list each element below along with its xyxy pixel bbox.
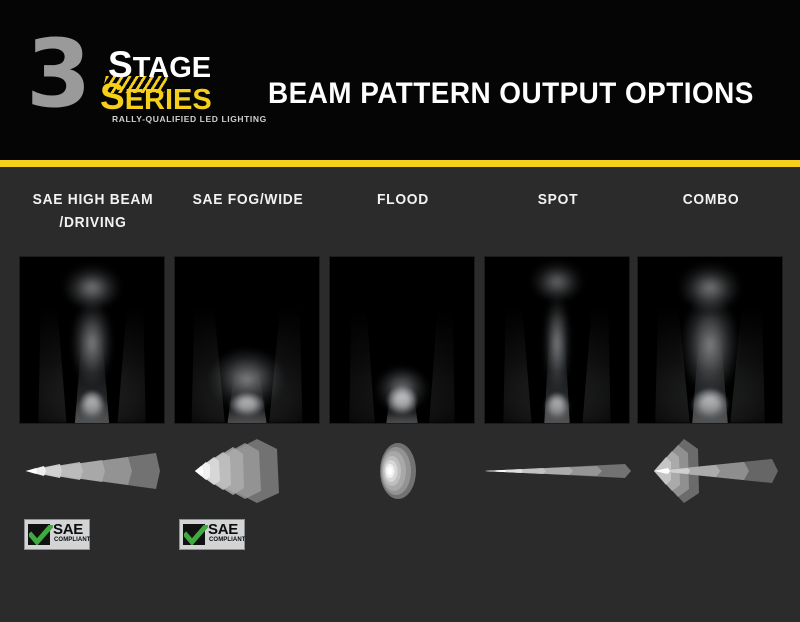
beam-pattern-diagram — [10, 435, 176, 507]
beam-diagram-flood-svg — [320, 435, 486, 507]
beam-option-label: COMBO — [636, 188, 785, 211]
logo-word-series: SERIES — [100, 82, 212, 115]
beam-option-column[interactable]: FLOOD — [330, 167, 476, 622]
sae-compliant-badge: SAE COMPLIANT — [24, 519, 90, 550]
logo-series-rest: ERIES — [125, 84, 212, 116]
beam-photo — [20, 257, 164, 423]
beam-options-grid: SAE HIGH BEAM /DRIVING — [0, 167, 800, 622]
accent-divider — [0, 160, 800, 167]
beam-pattern-diagram — [320, 435, 486, 507]
logo-series-initial: S — [100, 76, 125, 117]
beam-option-column[interactable]: COMBO — [638, 167, 784, 622]
beam-option-label: FLOOD — [328, 188, 477, 211]
beam-cones — [485, 464, 631, 478]
beam-option-column[interactable]: SPOT — [485, 167, 631, 622]
beam-pattern-diagram — [628, 435, 794, 507]
logo-tagline: RALLY-QUALIFIED LED LIGHTING — [112, 114, 267, 124]
beam-option-label: SPOT — [483, 188, 632, 211]
beam-photo — [175, 257, 319, 423]
beam-photo — [330, 257, 474, 423]
beam-option-label-line1: COMBO — [636, 188, 785, 211]
photo-vignette — [485, 257, 629, 423]
sae-badge-inner: SAE COMPLIANT — [183, 523, 241, 546]
beam-diagram-driving-svg — [10, 435, 176, 507]
beam-option-label-line1: SAE HIGH BEAM — [18, 188, 167, 211]
sae-badge-title: SAE — [53, 522, 83, 537]
header-bar: 3 STAGE SERIES RALLY-QUALIFIED LED LIGHT… — [0, 0, 800, 160]
sae-badge-title: SAE — [208, 522, 238, 537]
beam-diagram-combo-svg — [628, 435, 794, 507]
beam-cones — [195, 439, 279, 503]
sae-badge-subtitle: COMPLIANT — [209, 537, 246, 544]
beam-option-column[interactable]: SAE HIGH BEAM /DRIVING — [20, 167, 166, 622]
beam-pattern-diagram — [475, 435, 641, 507]
beam-photo — [638, 257, 782, 423]
beam-diagram-spot-svg — [475, 435, 641, 507]
photo-vignette — [175, 257, 319, 423]
sae-badge-subtitle: COMPLIANT — [54, 537, 91, 544]
beam-pattern-diagram — [165, 435, 331, 507]
beam-core — [26, 468, 37, 474]
beam-photo — [485, 257, 629, 423]
sae-compliant-badge: SAE COMPLIANT — [179, 519, 245, 550]
beam-option-label: SAE HIGH BEAM /DRIVING — [18, 188, 167, 234]
beam-core — [195, 466, 203, 476]
beam-option-label-line1: FLOOD — [328, 188, 477, 211]
photo-vignette — [330, 257, 474, 423]
beam-core — [387, 467, 392, 475]
beam-option-column[interactable]: SAE FOG/WIDE — [175, 167, 321, 622]
brand-logo: 3 STAGE SERIES RALLY-QUALIFIED LED LIGHT… — [26, 26, 241, 126]
photo-vignette — [20, 257, 164, 423]
check-icon — [29, 525, 53, 545]
beam-cones — [26, 453, 160, 489]
beam-option-label-line1: SPOT — [483, 188, 632, 211]
beam-core — [485, 470, 506, 472]
beam-option-label-line1: SAE FOG/WIDE — [173, 188, 322, 211]
check-icon — [184, 525, 208, 545]
photo-vignette — [638, 257, 782, 423]
beam-diagram-wide-svg — [165, 435, 331, 507]
logo-stage-rest: TAGE — [133, 52, 211, 84]
beam-option-label: SAE FOG/WIDE — [173, 188, 322, 211]
beam-cones — [380, 443, 416, 499]
logo-numeral-3: 3 — [26, 28, 87, 122]
beam-option-label-line2: /DRIVING — [18, 211, 167, 234]
sae-badge-inner: SAE COMPLIANT — [28, 523, 86, 546]
page-title: BEAM PATTERN OUTPUT OPTIONS — [268, 78, 754, 110]
